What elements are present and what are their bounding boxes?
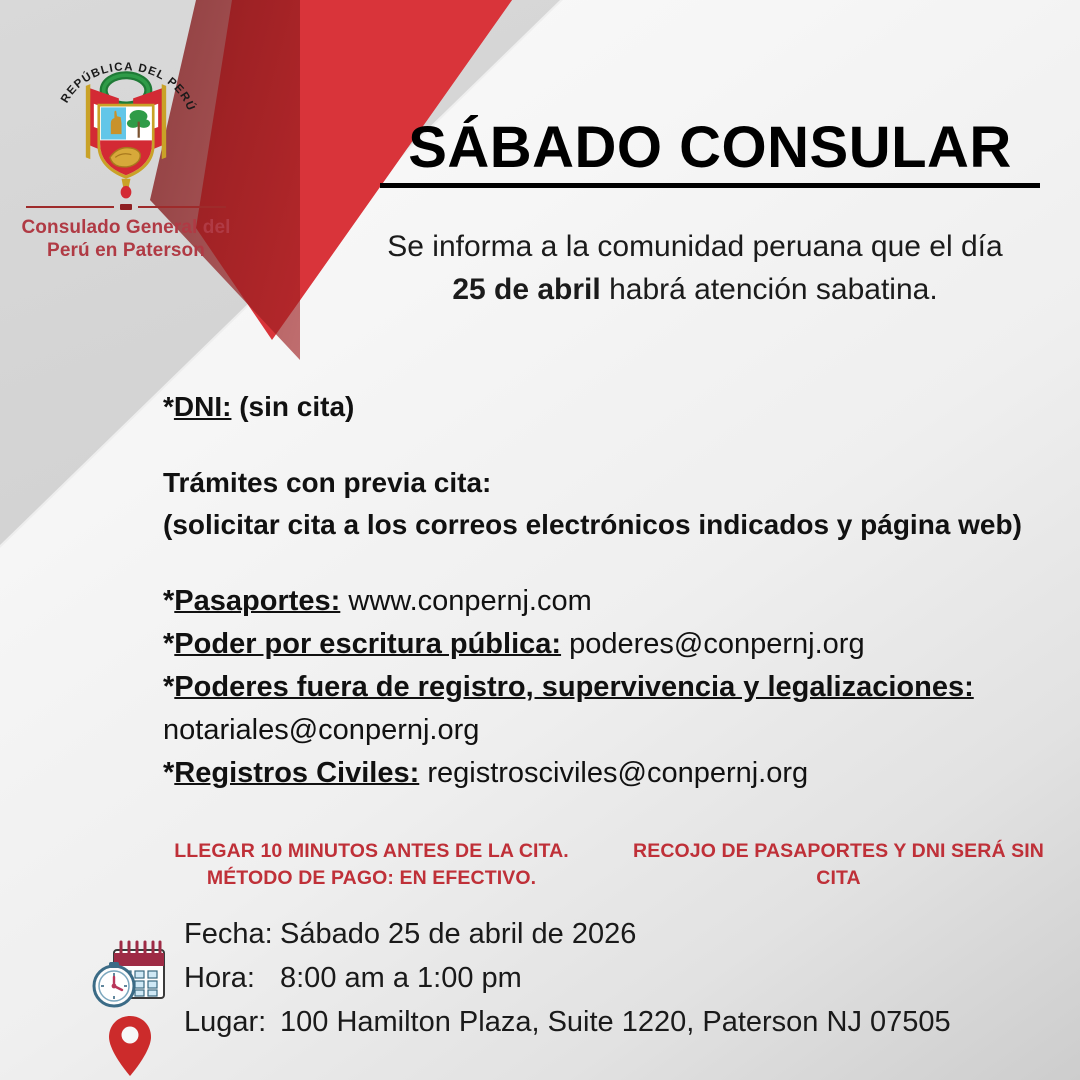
services-body: *DNI: (sin cita) Trámites con previa cit… [163, 386, 1053, 795]
service-label: Poderes fuera de registro, supervivencia… [174, 671, 973, 703]
detail-place-row: Lugar: 100 Hamilton Plaza, Suite 1220, P… [184, 1000, 951, 1044]
service-value: registrosciviles@conpernj.org [427, 757, 808, 789]
service-label: Registros Civiles: [174, 757, 419, 789]
service-item-poder-escritura-publica: *Poder por escritura pública: poderes@co… [163, 623, 1053, 666]
notice-pickup-line2: CITA [617, 865, 1060, 892]
announcement-subtitle: Se informa a la comunidad peruana que el… [330, 226, 1060, 311]
subtitle-part2: habrá atención sabatina. [609, 273, 938, 306]
bullet-star: * [163, 671, 174, 703]
appointments-heading: Trámites con previa cita: [163, 462, 1053, 504]
dni-value: (sin cita) [239, 391, 354, 422]
appointments-note: (solicitar cita a los correos electrónic… [163, 504, 1053, 546]
notice-arrival-line1: LLEGAR 10 MINUTOS ANTES DE LA CITA. [150, 838, 593, 865]
service-item-registros-civiles: *Registros Civiles: registrosciviles@con… [163, 752, 1053, 795]
logo-caption-line1: Consulado General del [16, 216, 236, 239]
notice-pickup-line1: RECOJO DE PASAPORTES Y DNI SERÁ SIN [617, 838, 1060, 865]
detail-place-value: 100 Hamilton Plaza, Suite 1220, Paterson… [280, 1000, 951, 1044]
dni-label: DNI: [174, 391, 232, 422]
service-value: poderes@conpernj.org [569, 628, 864, 660]
detail-place-label: Lugar: [184, 1000, 280, 1044]
calendar-clock-icon [92, 938, 170, 1012]
notices-row: LLEGAR 10 MINUTOS ANTES DE LA CITA. MÉTO… [150, 838, 1060, 892]
logo-caption: Consulado General del Perú en Paterson [16, 216, 236, 262]
bullet-star: * [163, 628, 174, 660]
details-icons [88, 942, 184, 943]
peru-coat-of-arms-icon: REPÚBLICA DEL PERÚ [36, 52, 216, 202]
page-title: SÁBADO CONSULAR [380, 118, 1040, 188]
map-pin-icon [106, 1014, 154, 1078]
details-row-wrapper: Fecha: Sábado 25 de abril de 2026 Hora: … [88, 912, 1048, 1044]
subtitle-date: 25 de abril [452, 273, 600, 306]
bullet-star: * [163, 757, 174, 789]
detail-date-value: Sábado 25 de abril de 2026 [280, 912, 951, 956]
service-value: notariales@conpernj.org [163, 714, 479, 746]
notice-payment-line2: MÉTODO DE PAGO: EN EFECTIVO. [150, 865, 593, 892]
service-label: Pasaportes: [174, 585, 340, 617]
detail-date-label: Fecha: [184, 912, 280, 956]
subtitle-part1: Se informa a la comunidad peruana que el… [387, 230, 1002, 263]
service-label: Poder por escritura pública: [174, 628, 561, 660]
dni-line: *DNI: (sin cita) [163, 386, 1053, 428]
detail-date-row: Fecha: Sábado 25 de abril de 2026 [184, 912, 951, 956]
notice-arrival-payment: LLEGAR 10 MINUTOS ANTES DE LA CITA. MÉTO… [150, 838, 593, 892]
detail-time-value: 8:00 am a 1:00 pm [280, 956, 951, 1000]
spacer [163, 546, 1053, 580]
event-details-block: Fecha: Sábado 25 de abril de 2026 Hora: … [88, 912, 1048, 1044]
dni-star: * [163, 391, 174, 422]
service-item-pasaportes: *Pasaportes: www.conpernj.com [163, 580, 1053, 623]
bullet-star: * [163, 585, 174, 617]
service-value: www.conpernj.com [348, 585, 591, 617]
service-item-poderes-fuera-de-registro: *Poderes fuera de registro, supervivenci… [163, 666, 1053, 752]
detail-time-row: Hora: 8:00 am a 1:00 pm [184, 956, 951, 1000]
details-text-column: Fecha: Sábado 25 de abril de 2026 Hora: … [184, 912, 951, 1044]
spacer [163, 428, 1053, 462]
logo-caption-line2: Perú en Paterson [16, 239, 236, 262]
detail-time-label: Hora: [184, 956, 280, 1000]
poster-canvas: REPÚBLICA DEL PERÚ [0, 0, 1080, 1080]
logo-divider-rule [26, 204, 226, 210]
notice-pickup: RECOJO DE PASAPORTES Y DNI SERÁ SIN CITA [617, 838, 1060, 892]
consulate-logo-block: REPÚBLICA DEL PERÚ [16, 52, 236, 262]
